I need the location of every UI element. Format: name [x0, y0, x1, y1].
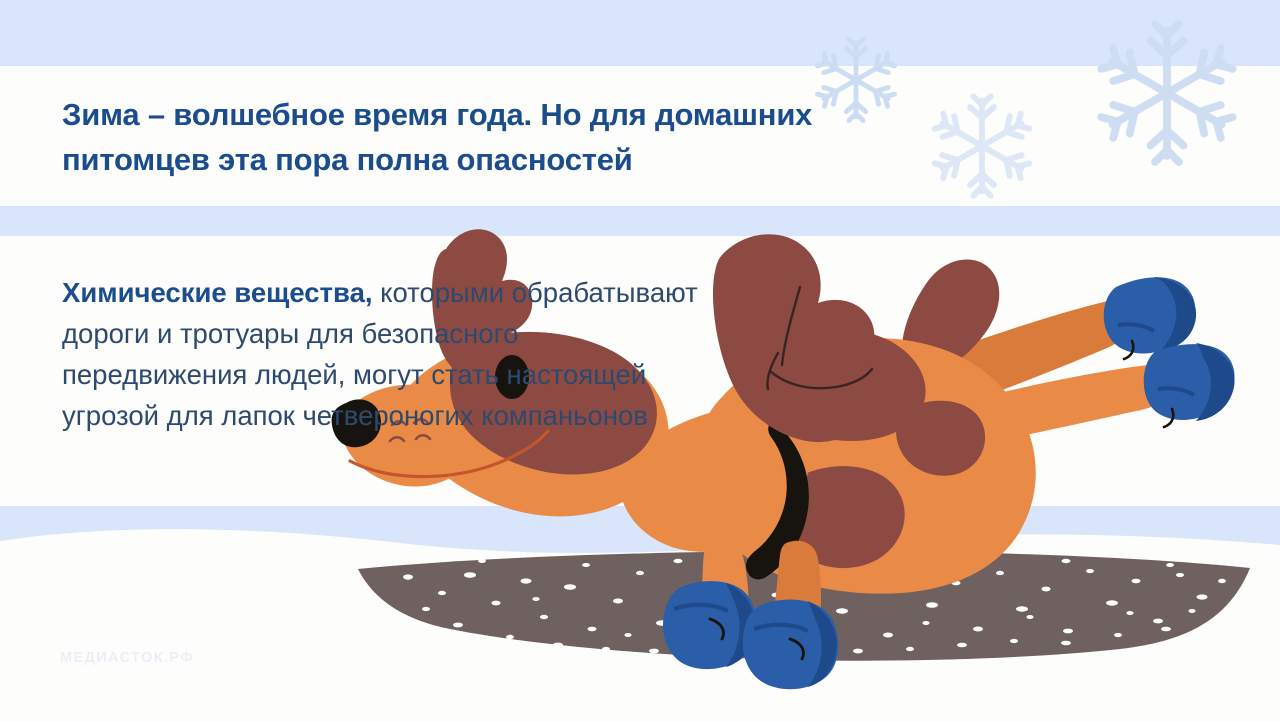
watermark: МЕДИАСТОК.РФ — [60, 650, 194, 666]
body-lead: Химические вещества, — [62, 277, 373, 308]
snowflake-small-icon — [812, 36, 900, 124]
boot-hind-lower — [1144, 343, 1235, 427]
boot-front-left — [663, 581, 756, 669]
body-paragraph: Химические вещества, которыми обрабатыва… — [62, 272, 702, 436]
snowflake-medium-icon — [928, 92, 1036, 200]
infographic-slide: Зима – волшебное время года. Но для дома… — [0, 0, 1280, 721]
snowflake-large-icon — [1092, 18, 1242, 168]
headline-text: Зима – волшебное время года. Но для дома… — [62, 92, 822, 182]
boot-front-right — [743, 600, 838, 690]
